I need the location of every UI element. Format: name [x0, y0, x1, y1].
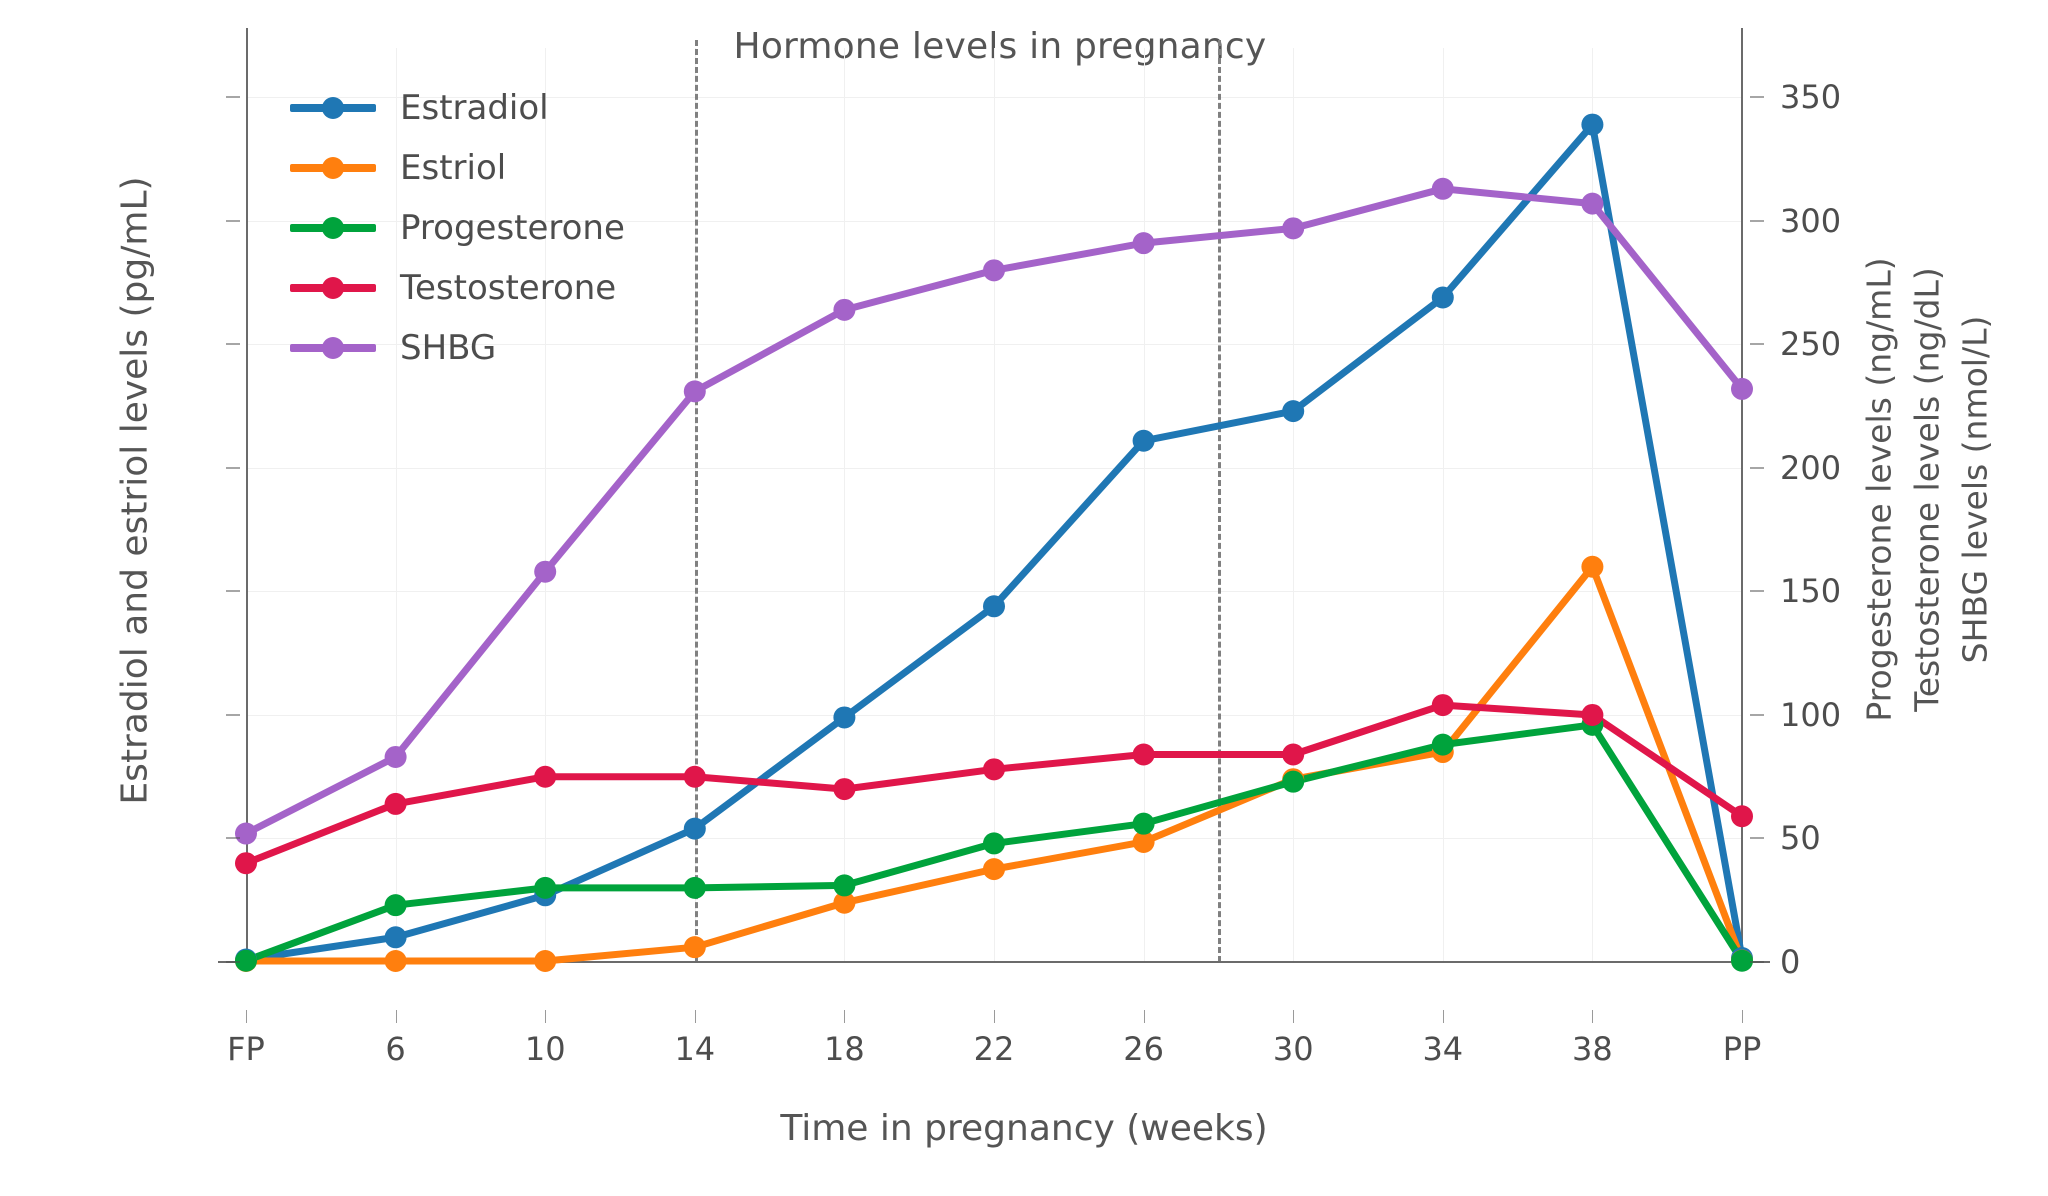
- data-point-shbg: [235, 823, 257, 845]
- data-point-shbg: [983, 259, 1005, 281]
- y-axis-right-tick-mark: [1750, 97, 1764, 98]
- legend-marker-icon: [322, 97, 344, 119]
- data-point-progesterone: [385, 894, 407, 916]
- legend-item-label: Testosterone: [400, 268, 616, 308]
- y-axis-right-tick-mark: [1750, 591, 1764, 592]
- data-point-estriol: [1581, 556, 1603, 578]
- data-point-estradiol: [1282, 400, 1304, 422]
- y-axis-right-tick-mark: [1750, 714, 1764, 715]
- data-point-testosterone: [1581, 704, 1603, 726]
- legend-marker-icon: [322, 277, 344, 299]
- x-axis-tick-label: 18: [824, 1030, 865, 1068]
- data-point-testosterone: [983, 758, 1005, 780]
- y-axis-left-tick-mark: [226, 962, 240, 963]
- data-point-testosterone: [235, 852, 257, 874]
- x-axis-tick-label: PP: [1723, 1030, 1762, 1068]
- y-axis-right-tick-label: 200: [1780, 449, 1841, 487]
- legend-item-label: Estradiol: [400, 88, 549, 128]
- legend-swatch-icon: [290, 344, 376, 352]
- y-axis-left-tick-mark: [226, 838, 240, 839]
- x-axis-tick-label: 6: [385, 1030, 405, 1068]
- data-point-shbg: [1581, 193, 1603, 215]
- x-axis-tick-label: 26: [1123, 1030, 1164, 1068]
- x-axis-tick-mark: [246, 1010, 247, 1023]
- y-axis-right-tick-label: 250: [1780, 325, 1841, 363]
- data-point-testosterone: [1432, 694, 1454, 716]
- data-point-progesterone: [684, 877, 706, 899]
- data-point-progesterone: [1133, 813, 1155, 835]
- legend-marker-icon: [322, 217, 344, 239]
- y-axis-right-tick-label: 50: [1780, 819, 1821, 857]
- y-axis-right-tick-label: 0: [1780, 943, 1800, 981]
- legend-item-estriol[interactable]: Estriol: [290, 138, 625, 198]
- x-axis-tick-label: 34: [1422, 1030, 1463, 1068]
- data-point-estriol: [385, 950, 407, 972]
- data-point-estradiol: [1581, 114, 1603, 136]
- legend-swatch-icon: [290, 104, 376, 112]
- x-axis-tick-mark: [1592, 1010, 1593, 1023]
- y-axis-right-tick-mark: [1750, 838, 1764, 839]
- data-point-estriol: [983, 858, 1005, 880]
- data-point-estradiol: [983, 595, 1005, 617]
- chart-legend: EstradiolEstriolProgesteroneTestosterone…: [290, 78, 625, 378]
- x-axis-tick-mark: [1144, 1010, 1145, 1023]
- legend-marker-icon: [322, 157, 344, 179]
- data-point-testosterone: [1282, 744, 1304, 766]
- x-axis-tick-label: 38: [1572, 1030, 1613, 1068]
- data-point-testosterone: [1731, 805, 1753, 827]
- data-point-progesterone: [1282, 771, 1304, 793]
- x-axis-tick-mark: [1742, 1010, 1743, 1023]
- data-point-progesterone: [833, 874, 855, 896]
- data-point-testosterone: [684, 766, 706, 788]
- x-axis-title: Time in pregnancy (weeks): [524, 1108, 1524, 1149]
- data-point-shbg: [1432, 178, 1454, 200]
- hormone-levels-chart-figure: Hormone levels in pregnancy Estradiol an…: [0, 0, 2048, 1196]
- data-point-shbg: [833, 299, 855, 321]
- y-axis-right-tick-label: 100: [1780, 696, 1841, 734]
- y-axis-left-tick-mark: [226, 591, 240, 592]
- y-axis-right-tick-mark: [1750, 220, 1764, 221]
- data-point-estradiol: [833, 706, 855, 728]
- y-axis-right-tick-mark: [1750, 344, 1764, 345]
- legend-item-shbg[interactable]: SHBG: [290, 318, 625, 378]
- data-point-testosterone: [833, 778, 855, 800]
- data-point-shbg: [684, 380, 706, 402]
- data-point-estriol: [534, 950, 556, 972]
- x-axis-tick-mark: [994, 1010, 995, 1023]
- data-point-estradiol: [1133, 430, 1155, 452]
- y-axis-left-tick-mark: [226, 714, 240, 715]
- legend-swatch-icon: [290, 224, 376, 232]
- x-axis-tick-label: 30: [1273, 1030, 1314, 1068]
- data-point-shbg: [1731, 378, 1753, 400]
- x-axis-tick-label: 10: [525, 1030, 566, 1068]
- y-axis-left-tick-mark: [226, 220, 240, 221]
- y-axis-left-tick-mark: [226, 97, 240, 98]
- x-axis-tick-label: 14: [674, 1030, 715, 1068]
- legend-item-label: SHBG: [400, 328, 496, 368]
- y-axis-left-tick-mark: [226, 467, 240, 468]
- x-axis-tick-label: 22: [974, 1030, 1015, 1068]
- data-point-estradiol: [1432, 287, 1454, 309]
- x-axis-tick-mark: [545, 1010, 546, 1023]
- data-point-testosterone: [1133, 744, 1155, 766]
- x-axis-tick-label: FP: [227, 1030, 265, 1068]
- data-point-testosterone: [534, 766, 556, 788]
- data-point-shbg: [1133, 232, 1155, 254]
- legend-item-estradiol[interactable]: Estradiol: [290, 78, 625, 138]
- legend-item-label: Estriol: [400, 148, 506, 188]
- y-axis-right-title-shbg: SHBG levels (nmol/L): [1956, 40, 1995, 940]
- y-axis-right-tick-mark: [1750, 467, 1764, 468]
- data-point-estriol: [684, 936, 706, 958]
- x-axis-tick-mark: [396, 1010, 397, 1023]
- data-point-shbg: [534, 561, 556, 583]
- data-point-progesterone: [983, 832, 1005, 854]
- legend-marker-icon: [322, 337, 344, 359]
- y-axis-right-tick-label: 150: [1780, 572, 1841, 610]
- legend-item-progesterone[interactable]: Progesterone: [290, 198, 625, 258]
- legend-item-testosterone[interactable]: Testosterone: [290, 258, 625, 318]
- data-point-progesterone: [1432, 734, 1454, 756]
- data-point-shbg: [385, 746, 407, 768]
- y-axis-right-title-testosterone: Testosterone levels (ng/dL): [1908, 40, 1947, 940]
- data-point-progesterone: [534, 877, 556, 899]
- y-axis-left-tick-mark: [226, 344, 240, 345]
- legend-swatch-icon: [290, 164, 376, 172]
- x-axis-tick-mark: [695, 1010, 696, 1023]
- y-axis-left-title: Estradiol and estriol levels (pg/mL): [115, 41, 156, 941]
- data-point-testosterone: [385, 793, 407, 815]
- y-axis-right-tick-mark: [1750, 962, 1764, 963]
- y-axis-right-tick-label: 300: [1780, 202, 1841, 240]
- data-point-estradiol: [684, 818, 706, 840]
- data-point-shbg: [1282, 217, 1304, 239]
- legend-swatch-icon: [290, 284, 376, 292]
- x-axis-tick-mark: [1443, 1010, 1444, 1023]
- data-point-estradiol: [385, 926, 407, 948]
- y-axis-right-tick-label: 350: [1780, 78, 1841, 116]
- legend-item-label: Progesterone: [400, 208, 625, 248]
- y-axis-right-title-progesterone: Progesterone levels (ng/mL): [1860, 40, 1899, 940]
- x-axis-tick-mark: [844, 1010, 845, 1023]
- x-axis-tick-mark: [1293, 1010, 1294, 1023]
